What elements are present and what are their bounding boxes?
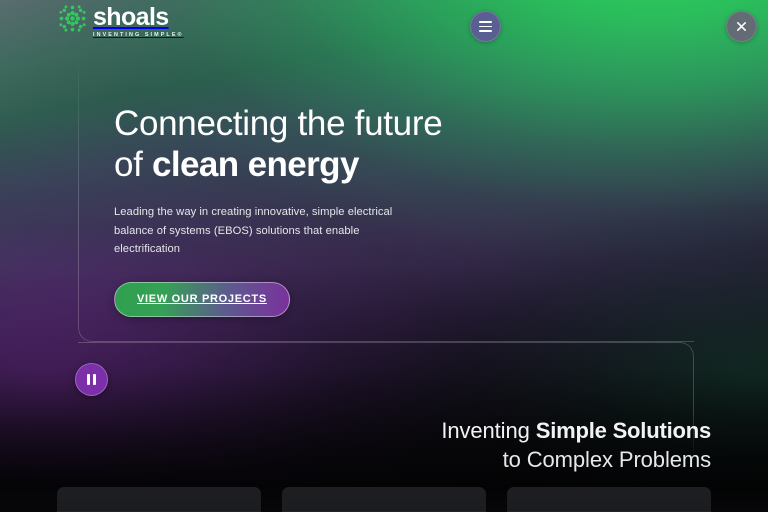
close-x-icon [735,20,748,33]
view-our-projects-button[interactable]: VIEW OUR PROJECTS [114,282,290,317]
brand-tagline-emphasis: Simple Solutions [536,418,711,443]
hero-heading: Connecting the future of clean energy [114,103,544,185]
hero-heading-prefix: of [114,145,152,184]
brand-tagline-prefix: Inventing [441,418,535,443]
hero-section: Connecting the future of clean energy Le… [114,103,544,317]
hero-heading-emphasis: clean energy [152,145,359,184]
close-button[interactable] [726,11,757,42]
logo-tagline-text: INVENTING SIMPLE® [93,31,184,39]
hamburger-menu-icon [479,30,492,32]
logo-wordmark: shoals [93,5,184,30]
brand-tagline-line-1: Inventing Simple Solutions [441,416,711,445]
shoals-logo[interactable]: shoals INVENTING SIMPLE® [57,3,184,39]
bottom-card-row [0,487,768,512]
bottom-card-3[interactable] [507,487,711,512]
sunburst-dots-icon [57,3,88,34]
hero-heading-line-2: of clean energy [114,144,544,185]
pause-icon [87,374,90,385]
carousel-pause-button[interactable] [75,363,108,396]
hamburger-menu-icon [479,26,492,28]
brand-tagline: Inventing Simple Solutions to Complex Pr… [441,416,711,474]
hero-paragraph: Leading the way in creating innovative, … [114,203,406,259]
page-stage: shoals INVENTING SIMPLE® Connecting the … [0,0,768,512]
brand-tagline-line-2: to Complex Problems [441,445,711,474]
bottom-card-1[interactable] [57,487,261,512]
bottom-card-2[interactable] [282,487,486,512]
site-header: shoals INVENTING SIMPLE® [0,0,768,52]
hamburger-menu-icon [479,21,492,23]
pause-icon [93,374,96,385]
hamburger-menu-button[interactable] [470,11,501,42]
hero-heading-line-1: Connecting the future [114,104,442,143]
